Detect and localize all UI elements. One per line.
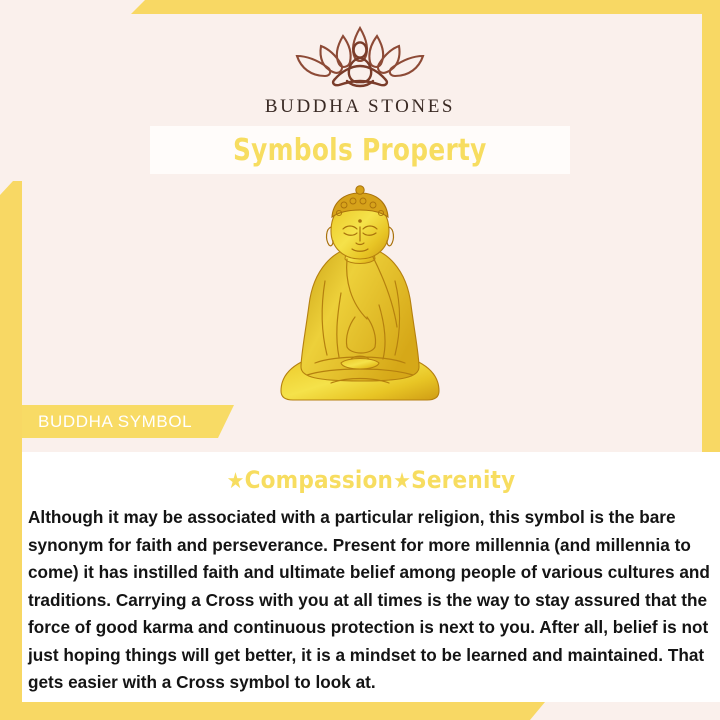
status-badge: BUDDHA SYMBOL xyxy=(22,405,234,438)
subtitle-word-serenity: Serenity xyxy=(411,466,515,494)
title-banner: Symbols Property xyxy=(150,126,570,174)
hero-image xyxy=(0,182,720,407)
golden-seated-buddha-statue xyxy=(255,185,465,407)
decorative-band-bottom xyxy=(0,702,560,720)
star-icon-left: ★ xyxy=(227,469,245,494)
badge-label: BUDDHA SYMBOL xyxy=(38,412,192,432)
poster-canvas: BUDDHA STONES Symbols Property xyxy=(0,0,720,720)
page-title: Symbols Property xyxy=(233,133,487,168)
star-icon-right: ★ xyxy=(393,469,411,494)
brand-logo-block: BUDDHA STONES xyxy=(0,22,720,118)
brand-name: BUDDHA STONES xyxy=(0,96,720,118)
content-card: ★Compassion★Serenity Although it may be … xyxy=(22,452,720,702)
section-subtitle: ★Compassion★Serenity xyxy=(22,466,720,494)
decorative-band-top xyxy=(0,0,720,14)
lotus-meditation-icon xyxy=(0,22,720,94)
subtitle-word-compassion: Compassion xyxy=(245,466,394,494)
body-paragraph: Although it may be associated with a par… xyxy=(28,504,712,697)
